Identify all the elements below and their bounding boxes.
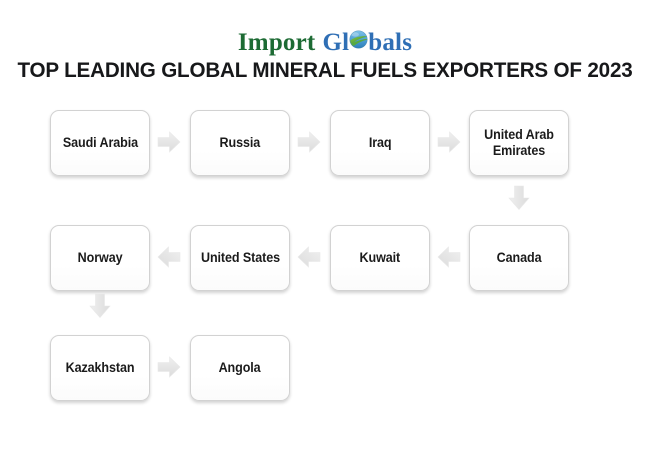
node-label: Norway (75, 250, 125, 266)
arrow-right-icon (436, 129, 462, 155)
node-label: Russia (217, 135, 263, 151)
node-label: Angola (216, 360, 264, 376)
connector-norway-to-kazakhstan (87, 292, 113, 320)
node-iraq[interactable]: Iraq (330, 110, 430, 176)
node-label: United States (198, 250, 283, 266)
node-label: Iraq (366, 135, 394, 151)
arrow-right-icon (296, 129, 322, 155)
node-united-arab-emirates[interactable]: United Arab Emirates (469, 110, 569, 176)
node-russia[interactable]: Russia (190, 110, 290, 176)
node-label: Kazakhstan (63, 360, 137, 376)
arrow-left-icon (296, 244, 322, 270)
node-label: Saudi Arabia (60, 135, 141, 151)
arrow-left-icon (156, 244, 182, 270)
node-kazakhstan[interactable]: Kazakhstan (50, 335, 150, 401)
node-label: Canada (494, 250, 544, 266)
node-angola[interactable]: Angola (190, 335, 290, 401)
node-label: United Arab Emirates (473, 127, 564, 160)
connector-uae-to-canada (506, 184, 532, 212)
arrow-right-icon (156, 129, 182, 155)
node-label: Kuwait (357, 250, 403, 266)
flow-diagram: Saudi Arabia Russia Iraq United Arab Emi… (0, 0, 650, 450)
node-saudi-arabia[interactable]: Saudi Arabia (50, 110, 150, 176)
node-kuwait[interactable]: Kuwait (330, 225, 430, 291)
arrow-left-icon (436, 244, 462, 270)
node-united-states[interactable]: United States (190, 225, 290, 291)
node-norway[interactable]: Norway (50, 225, 150, 291)
node-canada[interactable]: Canada (469, 225, 569, 291)
arrow-right-icon (156, 354, 182, 380)
